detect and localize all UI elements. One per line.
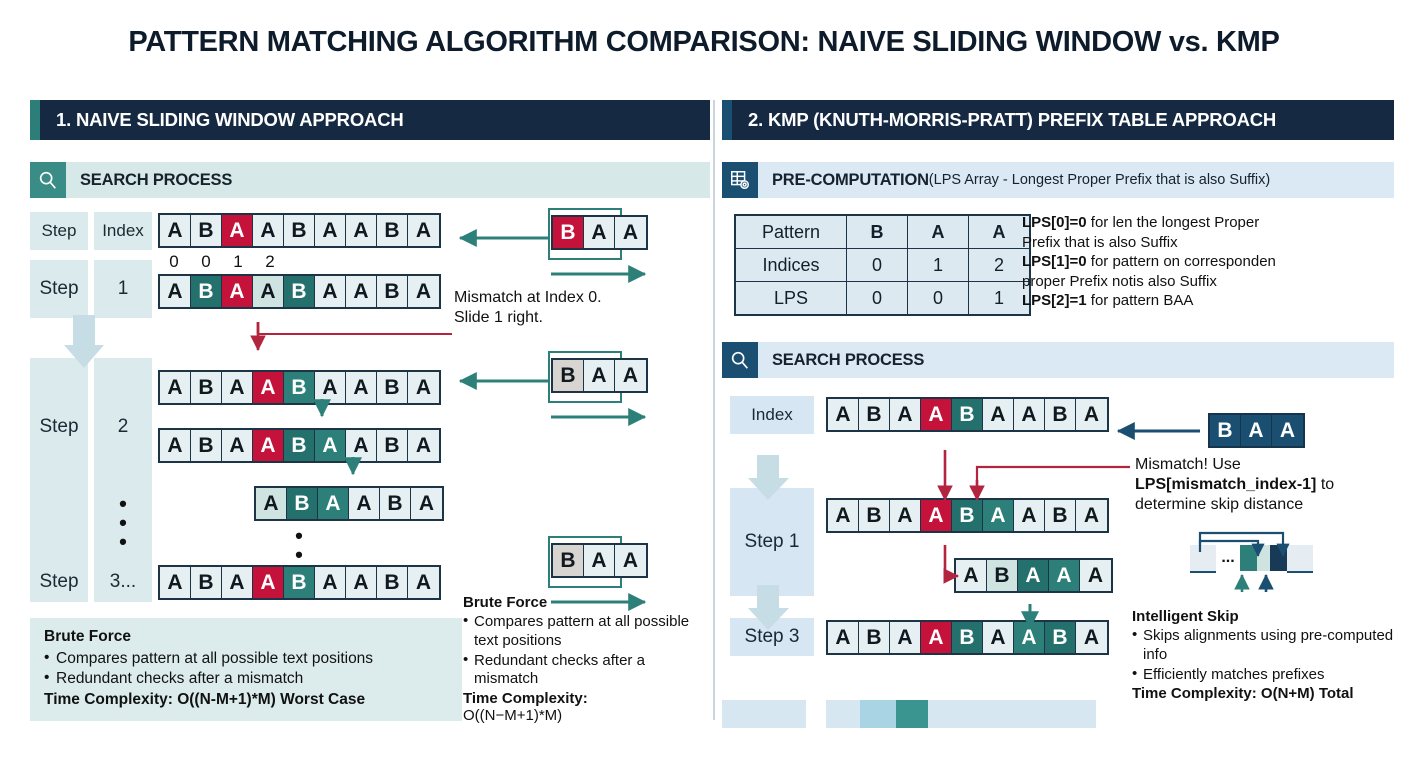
cell: A xyxy=(408,430,439,461)
lps-note-line: LPS[1]=0 for pattern on corresponden xyxy=(1022,253,1392,272)
cell: A xyxy=(349,488,380,519)
left-pattern-window-2: B A A xyxy=(551,358,648,393)
step-chip-3: Step xyxy=(30,562,88,602)
skip-seg-mint xyxy=(1257,545,1270,571)
table-row: LPS 0 0 1 xyxy=(735,282,1030,316)
skip-seg-right xyxy=(1287,545,1313,573)
lps-cell: 0 xyxy=(847,282,908,316)
cell: B xyxy=(1045,622,1076,653)
index-digit: 0 xyxy=(190,252,222,272)
cell: B xyxy=(859,500,890,531)
right-search-section-bar: SEARCH PROCESS xyxy=(722,342,1394,378)
kmp-pattern-window: B A A xyxy=(1208,413,1305,448)
lps-note-line: Prefix that is also Suffix xyxy=(1022,234,1392,253)
cell: A xyxy=(346,430,377,461)
index-digit-row: 0 0 1 2 xyxy=(158,252,286,272)
cell: B xyxy=(191,276,222,307)
right-mismatch-line-3: determine skip distance xyxy=(1135,495,1407,515)
lps-cell: A xyxy=(908,215,969,249)
cell: B xyxy=(284,215,315,246)
cell: A xyxy=(615,217,646,248)
cell: A xyxy=(222,372,253,403)
cell: B xyxy=(859,399,890,430)
left-search-section-bar: SEARCH PROCESS xyxy=(30,162,710,198)
cell: B xyxy=(553,360,584,391)
left-infobox-bullet: Redundant checks after a mismatch xyxy=(44,669,448,689)
text-strip-row-1: A B A A B A A B A xyxy=(158,274,441,309)
index-chip-1: 1 xyxy=(94,260,152,318)
skip-seg-left xyxy=(1190,545,1216,573)
text-strip-row-4: A B A A B A xyxy=(254,486,444,521)
index-digit: 0 xyxy=(158,252,190,272)
cell: B xyxy=(284,372,315,403)
cell: A xyxy=(956,560,987,591)
lps-cell: 1 xyxy=(908,249,969,282)
skip-seg-navy xyxy=(1270,545,1287,571)
right-text-strip-step3: A B A A B A A B A xyxy=(826,620,1109,655)
cell: A xyxy=(253,372,284,403)
step-chip-1: Step xyxy=(30,260,88,318)
left-sidebox: Brute Force Compares pattern at all poss… xyxy=(463,594,703,724)
cell: A xyxy=(408,372,439,403)
cell: B xyxy=(287,488,318,519)
cell: B xyxy=(377,276,408,307)
cell: A xyxy=(828,622,859,653)
left-search-section-label: SEARCH PROCESS xyxy=(80,171,232,190)
precomputation-sublabel: (LPS Array - Longest Proper Prefix that … xyxy=(929,172,1270,188)
precomputation-section-bar-fill: PRE-COMPUTATION (LPS Array - Longest Pro… xyxy=(758,162,1394,198)
left-infobox-bullet: Compares pattern at all possible text po… xyxy=(44,649,448,669)
cell: A xyxy=(921,500,952,531)
cell: A xyxy=(160,276,191,307)
left-mismatch-line-1: Mismatch at Index 0. xyxy=(454,288,684,308)
cell: A xyxy=(253,215,284,246)
lps-cell: 0 xyxy=(908,282,969,316)
cell: A xyxy=(890,622,921,653)
cell: B xyxy=(859,622,890,653)
right-mismatch-line-1: Mismatch! Use xyxy=(1135,455,1407,475)
lps-note-line: LPS[2]=1 for pattern BAA xyxy=(1022,292,1392,311)
cell: B xyxy=(1210,415,1241,446)
index-digit: 2 xyxy=(254,252,286,272)
cell: A xyxy=(1272,415,1303,446)
step-chip-2: Step xyxy=(30,358,88,580)
index-column-ellipsis: ••• xyxy=(94,500,152,546)
right-index-chip: Index xyxy=(730,396,814,434)
cell: A xyxy=(346,567,377,598)
cell: A xyxy=(346,215,377,246)
intelligent-skip-diagram: ... xyxy=(1190,533,1310,573)
lps-note-line: proper Prefix notis also Suffix xyxy=(1022,273,1392,292)
cell: B xyxy=(553,545,584,576)
cell: B xyxy=(380,488,411,519)
right-header-accent xyxy=(722,100,732,140)
cell: A xyxy=(921,622,952,653)
precomputation-section-bar: PRE-COMPUTATION (LPS Array - Longest Pro… xyxy=(722,162,1394,198)
magnifier-icon xyxy=(722,342,758,378)
right-text-strip-index: A B A A B A A B A xyxy=(826,397,1109,432)
right-mismatch-note: Mismatch! Use LPS[mismatch_index-1] to d… xyxy=(1135,455,1407,515)
right-infobox-bullet: Efficiently matches prefixes xyxy=(1132,666,1408,685)
cell: A xyxy=(160,372,191,403)
cell: A xyxy=(584,217,615,248)
cell: A xyxy=(828,399,859,430)
left-sidebox-bullet: Redundant checks after a mismatch xyxy=(463,652,703,690)
table-row: Indices 0 1 2 xyxy=(735,249,1030,282)
cell: B xyxy=(987,560,1018,591)
lps-area: Pattern B A A Indices 0 1 2 LPS 0 0 1 xyxy=(722,214,1394,334)
right-search-section-bar-fill: SEARCH PROCESS xyxy=(758,342,1394,378)
cell: A xyxy=(1076,500,1107,531)
lps-note-line: LPS[0]=0 for len the longest Proper xyxy=(1022,214,1392,233)
left-sidebox-complexity-label: Time Complexity: xyxy=(463,690,703,707)
lps-cell: A xyxy=(969,215,1031,249)
cell: B xyxy=(952,500,983,531)
panel-divider xyxy=(713,100,715,720)
cell: A xyxy=(222,276,253,307)
bottom-strip-accent-1 xyxy=(860,700,896,728)
right-step1-chip: Step 1 xyxy=(730,488,814,596)
right-header-title: 2. KMP (KNUTH-MORRIS-PRATT) PREFIX TABLE… xyxy=(748,109,1276,131)
cell: A xyxy=(160,215,191,246)
cell: A xyxy=(411,488,442,519)
cell: A xyxy=(346,276,377,307)
left-header-title: 1. NAIVE SLIDING WINDOW APPROACH xyxy=(56,109,404,131)
right-infobox-complexity: Time Complexity: O(N+M) Total xyxy=(1132,685,1408,702)
cell: B xyxy=(1045,399,1076,430)
cell: A xyxy=(1080,560,1111,591)
cell: A xyxy=(1014,500,1045,531)
right-text-strip-step1: A B A A B A A B A xyxy=(826,498,1109,533)
cell: A xyxy=(408,567,439,598)
table-row: Pattern B A A xyxy=(735,215,1030,249)
magnifier-icon xyxy=(30,162,66,198)
bottom-strip-left xyxy=(722,700,806,728)
lps-table: Pattern B A A Indices 0 1 2 LPS 0 0 1 xyxy=(734,214,1031,316)
cell: B xyxy=(191,567,222,598)
page-title-text: PATTERN MATCHING ALGORITHM COMPARISON: N… xyxy=(128,26,1279,58)
right-infobox-bullet: Skips alignments using pre-computed info xyxy=(1132,627,1408,665)
cell: B xyxy=(952,399,983,430)
cell: A xyxy=(315,430,346,461)
cell: B xyxy=(377,372,408,403)
cell: A xyxy=(828,500,859,531)
table-gear-icon xyxy=(722,162,758,198)
lps-notes: LPS[0]=0 for len the longest Proper Pref… xyxy=(1022,214,1392,312)
skip-seg-teal xyxy=(1240,545,1257,571)
cell: A xyxy=(1014,399,1045,430)
right-text-strip-shift: A B A A A xyxy=(954,558,1113,593)
cell: A xyxy=(256,488,287,519)
lps-cell: B xyxy=(847,215,908,249)
left-header-accent xyxy=(30,100,40,140)
cell: A xyxy=(253,276,284,307)
right-search-section-label: SEARCH PROCESS xyxy=(772,351,924,370)
cell: A xyxy=(222,215,253,246)
left-sidebox-bullet: Compares pattern at all possible text po… xyxy=(463,613,703,651)
left-sidebox-complexity-value: O((N−M+1)*M) xyxy=(463,707,703,724)
left-search-section-bar-fill: SEARCH PROCESS xyxy=(66,162,710,198)
cell: A xyxy=(318,488,349,519)
col-header-step: Step xyxy=(30,212,88,250)
cell: B xyxy=(1045,500,1076,531)
index-chip-3: 3... xyxy=(94,562,152,602)
cell: A xyxy=(160,567,191,598)
cell: B xyxy=(284,430,315,461)
cell: A xyxy=(408,215,439,246)
right-panel-header: 2. KMP (KNUTH-MORRIS-PRATT) PREFIX TABLE… xyxy=(722,100,1394,140)
left-infobox-complexity: Time Complexity: O((N-M+1)*M) Worst Case xyxy=(44,691,448,709)
cell: A xyxy=(315,372,346,403)
right-infobox: Intelligent Skip Skips alignments using … xyxy=(1132,608,1408,702)
cell: A xyxy=(222,430,253,461)
left-pattern-window-3: B A A xyxy=(551,543,648,578)
lps-cell: 2 xyxy=(969,249,1031,282)
cell: A xyxy=(253,567,284,598)
cell: A xyxy=(890,500,921,531)
col-header-index: Index xyxy=(94,212,152,250)
cell: A xyxy=(315,276,346,307)
cell: A xyxy=(890,399,921,430)
infographic-root: PATTERN MATCHING ALGORITHM COMPARISON: N… xyxy=(0,0,1408,768)
cell: A xyxy=(315,215,346,246)
lps-row-label: Pattern xyxy=(735,215,847,249)
cell: B xyxy=(191,372,222,403)
cell: A xyxy=(1018,560,1049,591)
lps-cell: 0 xyxy=(847,249,908,282)
cell: A xyxy=(1076,622,1107,653)
left-infobox-heading: Brute Force xyxy=(44,628,448,646)
left-panel-header: 1. NAIVE SLIDING WINDOW APPROACH xyxy=(30,100,710,140)
text-strip-row-2: A B A A B A A B A xyxy=(158,370,441,405)
cell: A xyxy=(253,430,284,461)
right-step3-chip: Step 3 xyxy=(730,618,814,656)
cell: A xyxy=(983,399,1014,430)
index-digit: 1 xyxy=(222,252,254,272)
cell: B xyxy=(553,217,584,248)
cell: A xyxy=(160,430,191,461)
right-infobox-heading: Intelligent Skip xyxy=(1132,608,1408,625)
cell: A xyxy=(346,372,377,403)
lps-row-label: LPS xyxy=(735,282,847,316)
left-pattern-window-1: B A A xyxy=(551,215,648,250)
cell: A xyxy=(1014,622,1045,653)
precomputation-label: PRE-COMPUTATION xyxy=(772,171,929,190)
cell: B xyxy=(952,622,983,653)
cell: B xyxy=(377,215,408,246)
cell: A xyxy=(1241,415,1272,446)
cell: B xyxy=(191,430,222,461)
cell: A xyxy=(408,276,439,307)
left-mismatch-line-2: Slide 1 right. xyxy=(454,308,684,328)
left-sidebox-heading: Brute Force xyxy=(463,594,703,611)
cell: B xyxy=(284,276,315,307)
text-strip-row-3: A B A A B A A B A xyxy=(158,428,441,463)
text-strip-row-0: A B A A B A A B A xyxy=(158,213,441,248)
page-title: PATTERN MATCHING ALGORITHM COMPARISON: N… xyxy=(0,26,1408,59)
left-mismatch-note: Mismatch at Index 0. Slide 1 right. xyxy=(454,288,684,328)
cell: A xyxy=(983,500,1014,531)
cell: B xyxy=(191,215,222,246)
cell: A xyxy=(615,360,646,391)
text-strip-row-5: A B A A B A A B A xyxy=(158,565,441,600)
left-infobox: Brute Force Compares pattern at all poss… xyxy=(30,618,462,721)
cell: A xyxy=(983,622,1014,653)
lps-cell: 1 xyxy=(969,282,1031,316)
cell: B xyxy=(377,567,408,598)
bottom-strip-accent-2 xyxy=(896,700,928,728)
cell: A xyxy=(584,360,615,391)
cell: A xyxy=(584,545,615,576)
cell: B xyxy=(377,430,408,461)
lps-row-label: Indices xyxy=(735,249,847,282)
cell: A xyxy=(921,399,952,430)
right-mismatch-line-2: LPS[mismatch_index-1] to xyxy=(1135,475,1407,495)
cell: A xyxy=(315,567,346,598)
skip-ellipsis: ... xyxy=(1216,545,1240,571)
cell: A xyxy=(615,545,646,576)
cell: A xyxy=(1049,560,1080,591)
cell: A xyxy=(1076,399,1107,430)
cell: A xyxy=(222,567,253,598)
cell: B xyxy=(284,567,315,598)
